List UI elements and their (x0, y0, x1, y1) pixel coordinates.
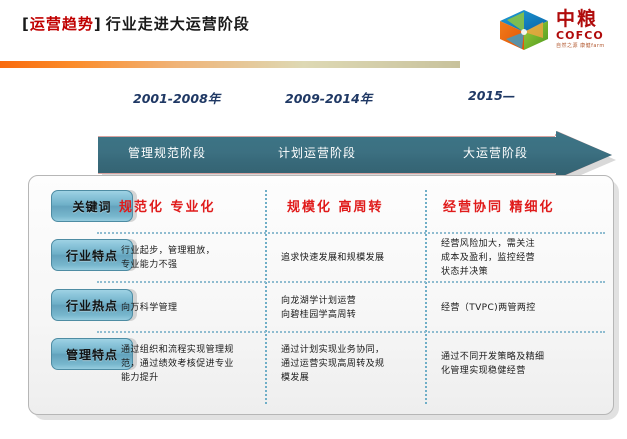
stage-label-2: 计划运营阶段 (278, 144, 356, 161)
logo-english-name: COFCO (556, 30, 604, 42)
year-label-3: 2015— (468, 88, 515, 103)
stage-label-1: 管理规范阶段 (128, 144, 206, 161)
cell-industry-traits-stage3: 经营风险加大，需关注 成本及盈利，监控经营 状态并决策 (441, 237, 535, 279)
cell-management-stage2: 通过计划实现业务协同， 通过运营实现高周转及规 模发展 (281, 343, 384, 385)
cell-keywords-stage1: 规范化 专业化 (119, 199, 216, 217)
cell-management-stage3: 通过不同开发策略及精细 化管理实现稳健经营 (441, 350, 544, 378)
timeline-year-labels: 2001-2008年 2009-2014年 2015— (0, 88, 627, 112)
cell-industry-traits-stage2: 追求快速发展和规模发展 (281, 251, 384, 265)
row-divider-1 (97, 232, 605, 234)
row-divider-3 (97, 331, 605, 333)
year-label-2: 2009-2014年 (285, 88, 372, 107)
cofco-logo: 中粮 COFCO 自然之源 康健farm (498, 6, 620, 52)
title-bracket-close: ] (94, 15, 102, 33)
cell-hotspots-stage3: 经营（TVPC)两管两控 (441, 301, 536, 315)
logo-chinese-name: 中粮 (556, 9, 598, 29)
stage-arrow-banner: 管理规范阶段 计划运营阶段 大运营阶段 (98, 131, 612, 179)
cell-keywords-stage3: 经营协同 精细化 (443, 199, 555, 217)
column-divider-2 (425, 190, 427, 404)
cell-management-stage1: 通过组织和流程实现管理规 范，通过绩效考核促进专业 能力提升 (121, 343, 234, 385)
title-underline-bar (0, 61, 460, 68)
cell-keywords-stage2: 规模化 高周转 (287, 199, 384, 217)
row-divider-2 (97, 281, 605, 283)
title-rest: 行业走进大运营阶段 (106, 15, 250, 33)
cell-industry-traits-stage1: 行业起步，管理粗放， 专业能力不强 (121, 244, 215, 272)
title-bracket-open: [ (22, 15, 30, 33)
stage-label-3: 大运营阶段 (463, 144, 528, 161)
cofco-cube-icon (498, 8, 550, 52)
title-highlight: 运营趋势 (30, 15, 94, 33)
logo-tagline: 自然之源 康健farm (556, 42, 605, 49)
column-divider-1 (265, 190, 267, 404)
page-title: [运营趋势]行业走进大运营阶段 (22, 13, 250, 34)
matrix-panel: 关键词 行业特点 行业热点 管理特点 规范化 专业化 规模化 高周转 经营协同 … (28, 175, 614, 415)
cell-hotspots-stage2: 向龙湖学计划运营 向碧桂园学高周转 (281, 294, 356, 322)
cell-hotspots-stage1: 向万科学管理 (121, 301, 177, 315)
year-label-1: 2001-2008年 (133, 88, 220, 107)
